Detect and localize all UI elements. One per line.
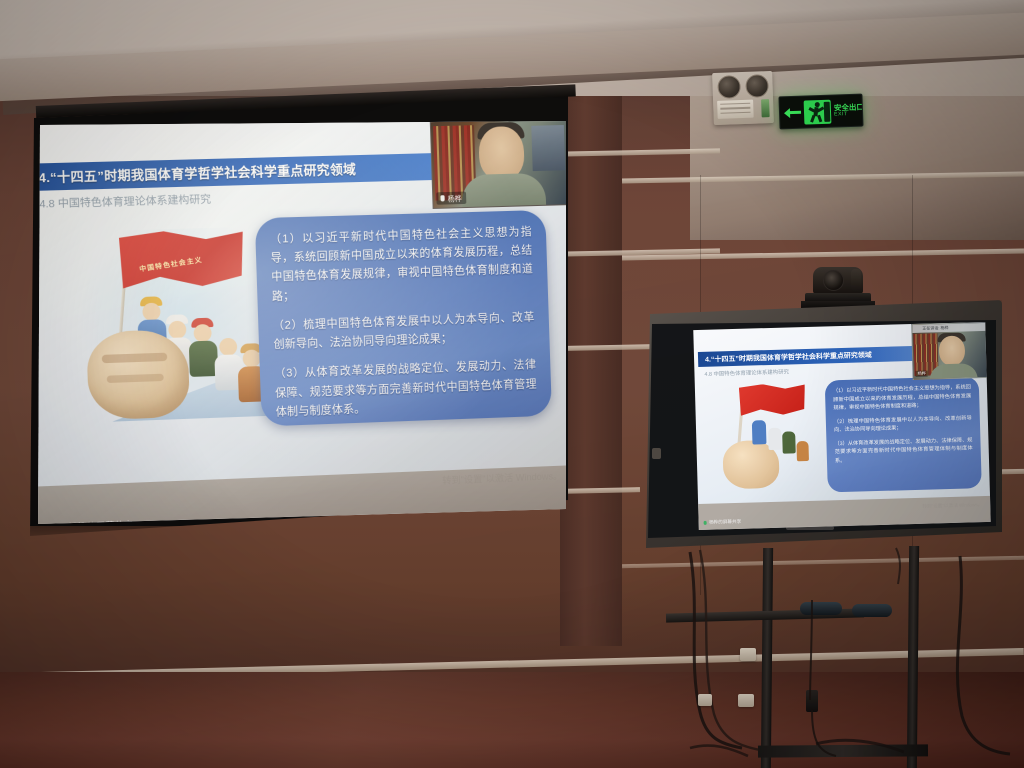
- room-photo-scene: 安全出口 EXIT S 4.“十四五”时期我国体育学哲学社会科学重点研究领域 4…: [0, 0, 1024, 768]
- cables: [0, 0, 1024, 768]
- wall-outlet: [738, 694, 754, 707]
- wall-outlet: [698, 694, 712, 706]
- wall-outlet: [740, 648, 756, 661]
